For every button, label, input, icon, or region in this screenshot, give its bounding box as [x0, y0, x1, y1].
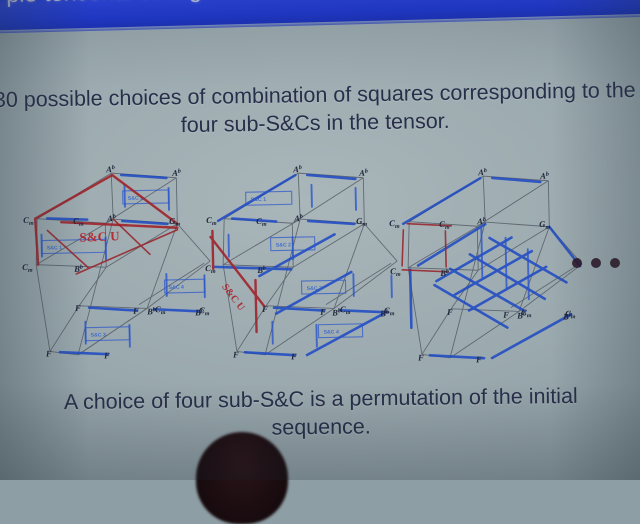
- svg-text:Cm: Cm: [439, 219, 450, 231]
- svg-text:S&C U: S&C U: [219, 282, 246, 313]
- svg-text:F: F: [45, 348, 52, 358]
- svg-text:Ab: Ab: [293, 213, 303, 223]
- svg-text:Cm: Cm: [155, 304, 166, 316]
- slide-surface: ple tensorial configurations 30 possible…: [0, 0, 640, 480]
- svg-text:F: F: [502, 310, 509, 320]
- ellipsis-dot-2: [591, 258, 601, 268]
- tensor-cube-1: S&C 1 S&C 2 S&C 3 S&C 4 S&C U: [16, 153, 220, 362]
- svg-text:S&C U: S&C U: [79, 228, 120, 245]
- svg-text:Bb: Bb: [439, 268, 449, 278]
- svg-text:S&C 3: S&C 3: [307, 286, 323, 292]
- svg-text:Ab: Ab: [106, 213, 116, 223]
- svg-text:Cm: Cm: [390, 266, 401, 278]
- ellipsis-dot-1: [572, 258, 582, 268]
- diagram-band: S&C 1 S&C 2 S&C 3 S&C 4 S&C U: [0, 150, 640, 365]
- svg-text:F: F: [319, 307, 326, 317]
- lead-paragraph: 30 possible choices of combination of sq…: [0, 77, 640, 143]
- svg-text:Bb: Bb: [379, 308, 389, 318]
- tensor-cube-3: Ab Ab Cm Cm Ab Gm Cm Bb Cm Cm F F F F Bb…: [388, 156, 592, 365]
- ellipsis-dots: [572, 258, 620, 268]
- svg-text:Cm: Cm: [23, 215, 34, 227]
- svg-text:S&C 4: S&C 4: [169, 285, 185, 291]
- svg-text:S&C 3: S&C 3: [91, 332, 107, 338]
- svg-text:Bb: Bb: [194, 307, 204, 317]
- audience-head-silhouette: [196, 432, 288, 524]
- svg-text:Cm: Cm: [256, 216, 267, 228]
- svg-text:Bb: Bb: [331, 307, 341, 317]
- svg-text:Cm: Cm: [340, 304, 351, 316]
- svg-text:S&C 1: S&C 1: [47, 245, 63, 251]
- svg-text:Ab: Ab: [358, 168, 368, 178]
- ellipsis-dot-3: [610, 258, 620, 268]
- svg-text:F: F: [446, 307, 453, 317]
- svg-text:S&C 1: S&C 1: [251, 197, 267, 203]
- svg-text:Cm: Cm: [22, 262, 33, 274]
- svg-text:Ab: Ab: [292, 164, 302, 174]
- svg-text:Bb: Bb: [516, 310, 526, 320]
- svg-text:Ab: Ab: [539, 171, 549, 181]
- svg-text:Gm: Gm: [169, 216, 180, 228]
- svg-text:S&C 4: S&C 4: [324, 329, 340, 335]
- svg-text:F: F: [475, 354, 482, 364]
- svg-text:Cm: Cm: [73, 216, 84, 228]
- svg-text:F: F: [132, 306, 139, 316]
- svg-text:Cm: Cm: [206, 215, 217, 227]
- svg-text:S&C 2: S&C 2: [276, 242, 292, 248]
- svg-text:Ab: Ab: [171, 168, 181, 178]
- svg-text:F: F: [261, 304, 268, 314]
- svg-text:F: F: [74, 303, 81, 313]
- closing-paragraph: A choice of four sub-S&C is a permutatio…: [18, 382, 625, 445]
- svg-text:F: F: [417, 352, 424, 362]
- slide-title: ple tensorial configurations: [6, 0, 286, 8]
- svg-text:Ab: Ab: [477, 167, 487, 177]
- svg-text:Cm: Cm: [205, 263, 216, 275]
- svg-text:F: F: [290, 351, 297, 361]
- svg-text:Gm: Gm: [356, 216, 367, 228]
- svg-text:F: F: [103, 350, 110, 360]
- tensor-cube-2: S&C 1 S&C 2 S&C 3 S&C 4 S&C U Ab Ab Cm C…: [203, 153, 407, 362]
- svg-text:Ab: Ab: [105, 164, 115, 174]
- svg-text:Cm: Cm: [389, 218, 400, 230]
- svg-text:Bb: Bb: [146, 306, 156, 316]
- svg-text:F: F: [232, 349, 239, 359]
